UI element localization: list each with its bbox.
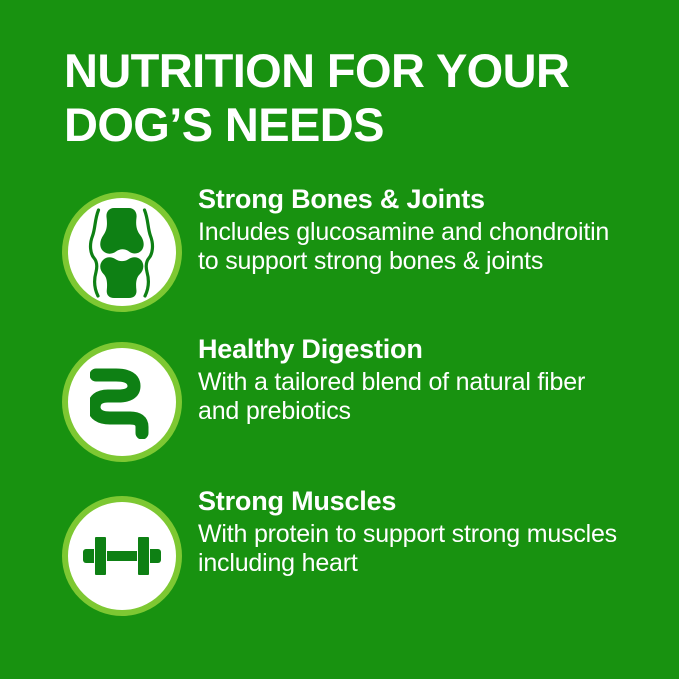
feature-heading: Strong Muscles (198, 486, 628, 518)
page-title: NUTRITION FOR YOUR DOG’S NEEDS (64, 44, 624, 152)
intestine-icon (62, 342, 182, 462)
feature-item-bones-joints: Strong Bones & Joints Includes glucosami… (0, 188, 679, 340)
feature-body: With protein to support strong muscles i… (198, 520, 628, 579)
promo-panel: NUTRITION FOR YOUR DOG’S NEEDS (0, 0, 679, 679)
bone-joint-icon (62, 192, 182, 312)
feature-icon-wrapper (62, 496, 182, 616)
feature-body: With a tailored blend of natural fiber a… (198, 368, 628, 427)
feature-item-digestion: Healthy Digestion With a tailored blend … (0, 340, 679, 492)
feature-text-block: Strong Muscles With protein to support s… (198, 486, 628, 578)
feature-text-block: Healthy Digestion With a tailored blend … (198, 334, 628, 426)
feature-text-block: Strong Bones & Joints Includes glucosami… (198, 184, 628, 276)
feature-icon-wrapper (62, 342, 182, 462)
feature-heading: Healthy Digestion (198, 334, 628, 366)
dumbbell-icon (62, 496, 182, 616)
feature-list: Strong Bones & Joints Includes glucosami… (0, 188, 679, 644)
feature-body: Includes glucosamine and chondroitin to … (198, 218, 628, 277)
feature-heading: Strong Bones & Joints (198, 184, 628, 216)
feature-item-muscles: Strong Muscles With protein to support s… (0, 492, 679, 644)
feature-icon-wrapper (62, 192, 182, 312)
